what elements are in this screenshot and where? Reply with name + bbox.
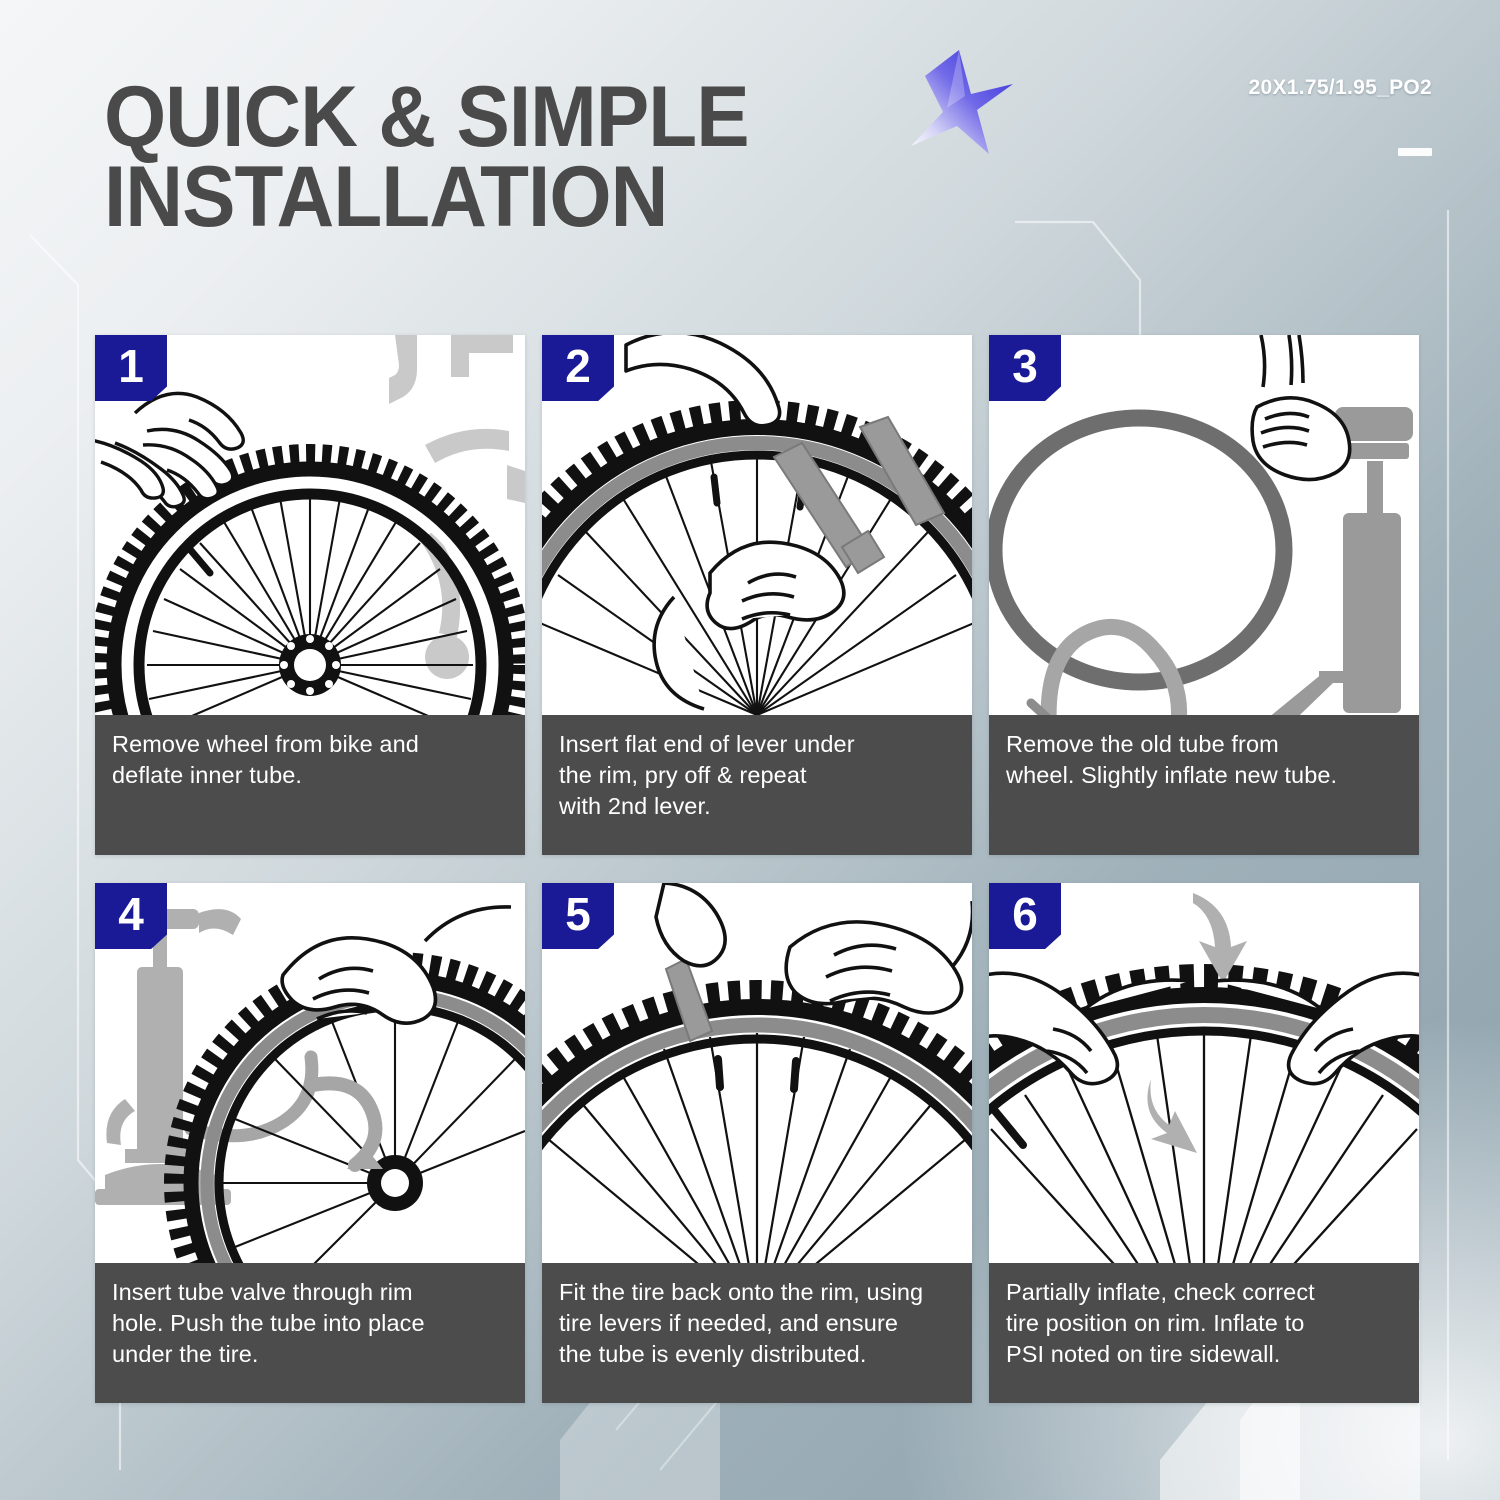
step-panel-4[interactable]: 4 Insert tube valve through rim hole. Pu… [95, 883, 525, 1403]
caption-line: tire levers if needed, and ensure [559, 1308, 956, 1339]
bike-wheel-hand-illustration [95, 335, 525, 735]
seat-tire-inflate-illustration [989, 883, 1419, 1283]
steps-grid: 1 Remove wheel from bike and deflate inn… [95, 335, 1425, 1403]
inner-tube-pump-illustration [989, 335, 1419, 735]
step-badge-3: 3 [989, 335, 1061, 401]
caption-line: tire position on rim. Inflate to [1006, 1308, 1403, 1339]
step-caption-6: Partially inflate, check correct tire po… [989, 1263, 1419, 1403]
caption-line: PSI noted on tire sidewall. [1006, 1339, 1403, 1370]
step-panel-3[interactable]: 3 Remove the old tube from wheel. Slight… [989, 335, 1419, 855]
caption-line: Insert tube valve through rim [112, 1277, 509, 1308]
caption-line: Insert flat end of lever under [559, 729, 956, 760]
caption-line: Partially inflate, check correct [1006, 1277, 1403, 1308]
step-badge-4: 4 [95, 883, 167, 949]
step-panel-5[interactable]: 5 Fit the tire back onto the rim, using … [542, 883, 972, 1403]
caption-line: with 2nd lever. [559, 791, 956, 822]
caption-line: under the tire. [112, 1339, 509, 1370]
step-badge-1: 1 [95, 335, 167, 401]
title-line-2: INSTALLATION [104, 158, 978, 238]
step-caption-4: Insert tube valve through rim hole. Push… [95, 1263, 525, 1403]
caption-line: Remove wheel from bike and [112, 729, 509, 760]
infographic-page: QUICK & SIMPLE INSTALLATION 20X1.75/1.95… [0, 0, 1500, 1500]
step-badge-6: 6 [989, 883, 1061, 949]
dash-mark-icon [1398, 148, 1432, 156]
step-badge-5: 5 [542, 883, 614, 949]
step-caption-1: Remove wheel from bike and deflate inner… [95, 715, 525, 855]
step-panel-2[interactable]: 2 Insert flat end of lever under the rim… [542, 335, 972, 855]
caption-line: wheel. Slightly inflate new tube. [1006, 760, 1403, 791]
step-caption-5: Fit the tire back onto the rim, using ti… [542, 1263, 972, 1403]
caption-line: deflate inner tube. [112, 760, 509, 791]
step-caption-2: Insert flat end of lever under the rim, … [542, 715, 972, 855]
tire-lever-pry-illustration [542, 335, 972, 735]
step-panel-6[interactable]: 6 Partially inflate, check correct tire … [989, 883, 1419, 1403]
valve-through-rim-illustration [95, 883, 525, 1283]
caption-line: the rim, pry off & repeat [559, 760, 956, 791]
caption-line: the tube is evenly distributed. [559, 1339, 956, 1370]
product-sku-label: 20X1.75/1.95_PO2 [1249, 76, 1432, 100]
caption-line: Remove the old tube from [1006, 729, 1403, 760]
step-badge-2: 2 [542, 335, 614, 401]
page-title: QUICK & SIMPLE INSTALLATION [104, 78, 978, 238]
step-panel-1[interactable]: 1 Remove wheel from bike and deflate inn… [95, 335, 525, 855]
caption-line: hole. Push the tube into place [112, 1308, 509, 1339]
refit-tire-onto-rim-illustration [542, 883, 972, 1283]
star-sparkle-icon [885, 38, 1025, 178]
caption-line: Fit the tire back onto the rim, using [559, 1277, 956, 1308]
step-caption-3: Remove the old tube from wheel. Slightly… [989, 715, 1419, 855]
